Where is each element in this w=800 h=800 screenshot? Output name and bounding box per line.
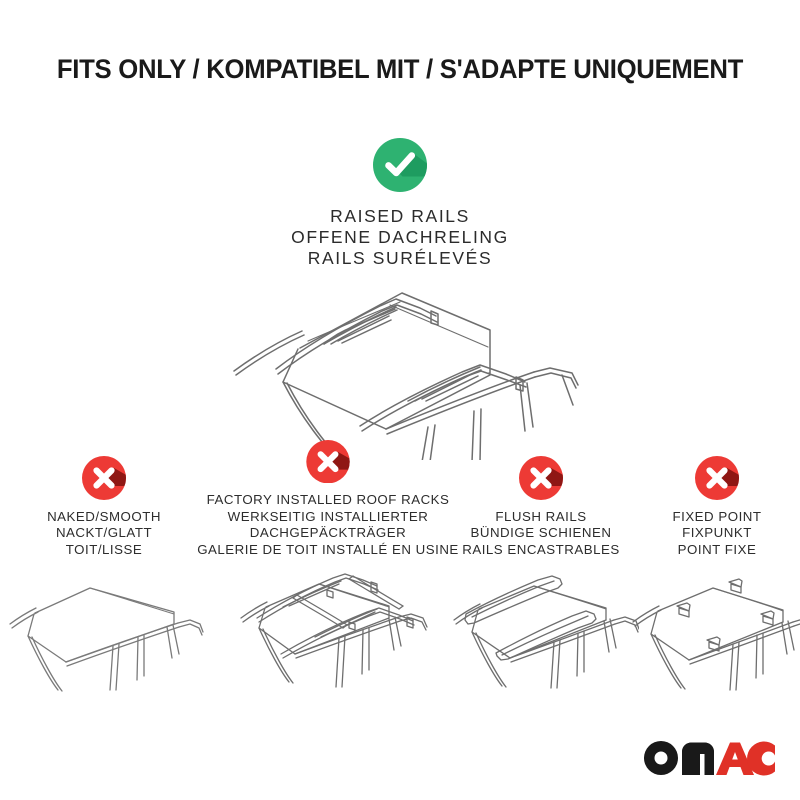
label-line-fr: GALERIE DE TOIT INSTALLÉ EN USINE [197,542,459,558]
compatible-label: RAISED RAILS OFFENE DACHRELING RAILS SUR… [0,206,800,269]
incompatible-item-head: FACTORY INSTALLED ROOF RACKS WERKSEITIG … [197,440,459,558]
x-circle-icon [82,456,126,500]
label-line-de-2: DACHGEPÄCKTRÄGER [197,525,459,541]
incompatible-label: NAKED/SMOOTH NACKT/GLATT TOIT/LISSE [47,509,161,558]
omac-logo-letter-m [682,743,714,776]
label-line-fr: TOIT/LISSE [47,542,161,558]
label-line-de-1: WERKSEITIG INSTALLIERTER [197,509,459,525]
incompatible-label: FACTORY INSTALLED ROOF RACKS WERKSEITIG … [197,492,459,558]
compatible-section: RAISED RAILS OFFENE DACHRELING RAILS SUR… [0,138,800,269]
incompatible-item-naked-smooth: NAKED/SMOOTH NACKT/GLATT TOIT/LISSE [0,440,208,800]
car-roof-factory-racks-illustration [221,562,436,702]
incompatible-item-flush-rails: FLUSH RAILS BÜNDIGE SCHIENEN RAILS ENCAS… [448,440,634,800]
x-circle-icon [695,456,739,500]
incompatible-item-factory-racks: FACTORY INSTALLED ROOF RACKS WERKSEITIG … [208,440,448,800]
incompatible-label: FLUSH RAILS BÜNDIGE SCHIENEN RAILS ENCAS… [462,509,620,558]
car-roof-raised-rails-illustration [190,275,610,460]
label-line-de: FIXPUNKT [673,525,762,541]
car-roof-flush-rails-illustration [444,562,639,702]
check-circle-icon [373,138,427,192]
car-roof-fixed-point-illustration [627,562,800,702]
compatible-label-line-fr: RAILS SURÉLEVÉS [0,248,800,269]
label-line-de: BÜNDIGE SCHIENEN [462,525,620,541]
omac-logo [644,738,776,778]
x-circle-icon [519,456,563,500]
label-line-en: FLUSH RAILS [462,509,620,525]
label-line-en: NAKED/SMOOTH [47,509,161,525]
label-line-fr: RAILS ENCASTRABLES [462,542,620,558]
label-line-en: FACTORY INSTALLED ROOF RACKS [197,492,459,508]
compatible-label-line-en: RAISED RAILS [0,206,800,227]
label-line-en: FIXED POINT [673,509,762,525]
compatible-label-line-de: OFFENE DACHRELING [0,227,800,248]
incompatible-item-head: FLUSH RAILS BÜNDIGE SCHIENEN RAILS ENCAS… [462,440,620,558]
page-title: FITS ONLY / KOMPATIBEL MIT / S'ADAPTE UN… [12,54,788,85]
omac-logo-letter-o [644,741,678,775]
incompatible-item-head: FIXED POINT FIXPUNKT POINT FIXE [673,440,762,558]
incompatible-item-head: NAKED/SMOOTH NACKT/GLATT TOIT/LISSE [47,440,161,558]
incompatible-label: FIXED POINT FIXPUNKT POINT FIXE [673,509,762,558]
label-line-fr: POINT FIXE [673,542,762,558]
label-line-de: NACKT/GLATT [47,525,161,541]
car-roof-naked-smooth-illustration [4,562,204,702]
x-circle-icon [306,440,350,483]
